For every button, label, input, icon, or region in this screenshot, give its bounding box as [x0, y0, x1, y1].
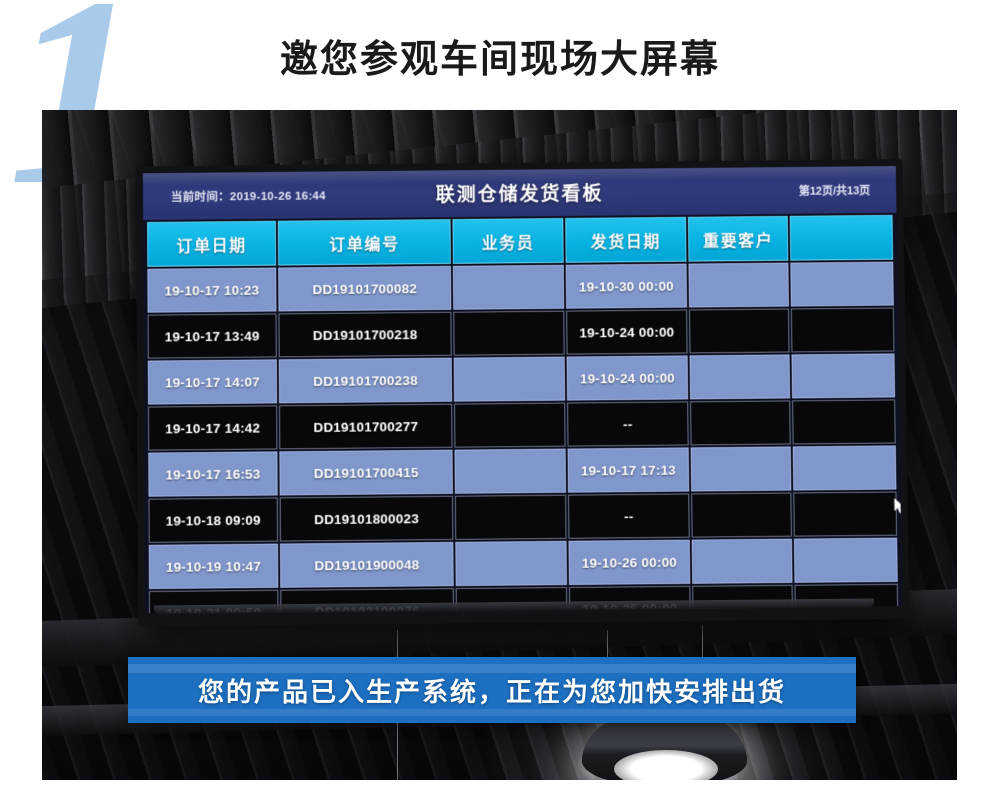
- table-header-row: 订单日期 订单编号 业务员 发货日期 重要客户: [147, 215, 893, 267]
- cell-ship-date: 19-10-24 00:00: [566, 310, 688, 355]
- table-body: 19-10-17 10:23DD1910170008219-10-30 00:0…: [147, 262, 898, 614]
- lamp-light: [614, 750, 718, 780]
- cell-salesperson: [453, 311, 564, 356]
- table-row: 19-10-17 10:23DD1910170008219-10-30 00:0…: [147, 262, 893, 313]
- cell-extra: [792, 445, 896, 490]
- cell-order-date: 19-10-19 10:47: [149, 544, 279, 589]
- cell-salesperson: [455, 541, 566, 586]
- cell-extra: [790, 262, 894, 307]
- cell-order-no: DD19101700238: [279, 358, 452, 404]
- page-title: 邀您参观车间现场大屏幕: [0, 28, 1000, 83]
- callout-banner-text: 您的产品已入生产系统，正在为您加快安排出货: [198, 672, 786, 709]
- cell-order-no: DD19101800023: [280, 496, 454, 542]
- mouse-cursor-icon: [894, 497, 903, 514]
- cell-key-customer: [692, 539, 792, 584]
- table-row: 19-10-17 13:49DD1910170021819-10-24 00:0…: [148, 308, 895, 359]
- column-header-key-customer: 重要客户: [688, 216, 788, 262]
- cell-salesperson: [455, 495, 566, 540]
- dashboard-topbar: 当前时间：2019-10-26 16:44 联测仓储发货看板 第12页/共13页: [143, 166, 897, 220]
- cell-order-no: DD19101700277: [279, 404, 453, 450]
- cell-order-no: DD19101700218: [278, 312, 451, 358]
- cell-extra: [791, 308, 895, 353]
- cell-order-date: 19-10-17 10:23: [147, 268, 276, 313]
- dashboard-screen: 当前时间：2019-10-26 16:44 联测仓储发货看板 第12页/共13页…: [143, 166, 902, 613]
- column-header-order-no: 订单编号: [278, 219, 451, 265]
- cell-order-no: DD19101700415: [279, 450, 453, 496]
- cell-order-no: DD19101900048: [280, 542, 454, 588]
- cell-key-customer: [689, 309, 789, 354]
- cell-extra: [792, 399, 896, 444]
- column-header-order-date: 订单日期: [147, 221, 276, 267]
- cell-extra: [791, 353, 895, 398]
- shipment-table: 订单日期 订单编号 业务员 发货日期 重要客户 19-10-17 10:23DD…: [143, 213, 902, 613]
- cell-ship-date: 19-10-30 00:00: [565, 264, 687, 309]
- cell-salesperson: [455, 449, 566, 494]
- cell-salesperson: [454, 403, 565, 448]
- table-row: 19-10-17 14:42DD19101700277--: [148, 399, 896, 450]
- column-header-extra: [790, 215, 894, 261]
- cell-ship-date: 19-10-24 00:00: [566, 355, 688, 400]
- table-row: 19-10-18 09:09DD19101800023--: [149, 492, 898, 543]
- cell-ship-date: 19-10-26 00:00: [568, 540, 690, 585]
- page-indicator: 第12页/共13页: [799, 182, 871, 199]
- current-time-label: 当前时间：2019-10-26 16:44: [171, 187, 326, 204]
- cell-order-no: DD19101700082: [278, 266, 451, 312]
- table-row: 19-10-19 10:47DD1910190004819-10-26 00:0…: [149, 538, 898, 589]
- cell-key-customer: [690, 354, 790, 399]
- cell-key-customer: [690, 400, 790, 445]
- column-header-ship-date: 发货日期: [565, 217, 687, 263]
- callout-banner: 您的产品已入生产系统，正在为您加快安排出货: [128, 657, 856, 723]
- column-header-salesperson: 业务员: [453, 218, 564, 264]
- table-row: 19-10-17 16:53DD1910170041519-10-17 17:1…: [148, 445, 896, 496]
- cell-key-customer: [691, 446, 791, 491]
- cell-salesperson: [453, 265, 564, 310]
- cell-ship-date: --: [567, 401, 689, 446]
- cell-extra: [794, 538, 898, 583]
- cell-extra: [793, 492, 897, 537]
- cell-ship-date: --: [568, 494, 690, 539]
- cell-order-date: 19-10-17 14:07: [148, 359, 277, 404]
- cell-salesperson: [454, 357, 565, 402]
- cell-order-date: 19-10-17 13:49: [148, 313, 277, 358]
- cell-ship-date: 19-10-17 17:13: [567, 447, 689, 492]
- cell-order-date: 19-10-18 09:09: [149, 497, 278, 542]
- wall-mounted-tv: 当前时间：2019-10-26 16:44 联测仓储发货看板 第12页/共13页…: [136, 159, 909, 626]
- cell-order-date: 19-10-17 16:53: [148, 451, 277, 496]
- cell-key-customer: [689, 263, 789, 308]
- cell-order-date: 19-10-17 14:42: [148, 405, 277, 450]
- table-row: 19-10-17 14:07DD1910170023819-10-24 00:0…: [148, 353, 895, 404]
- cell-key-customer: [691, 493, 791, 538]
